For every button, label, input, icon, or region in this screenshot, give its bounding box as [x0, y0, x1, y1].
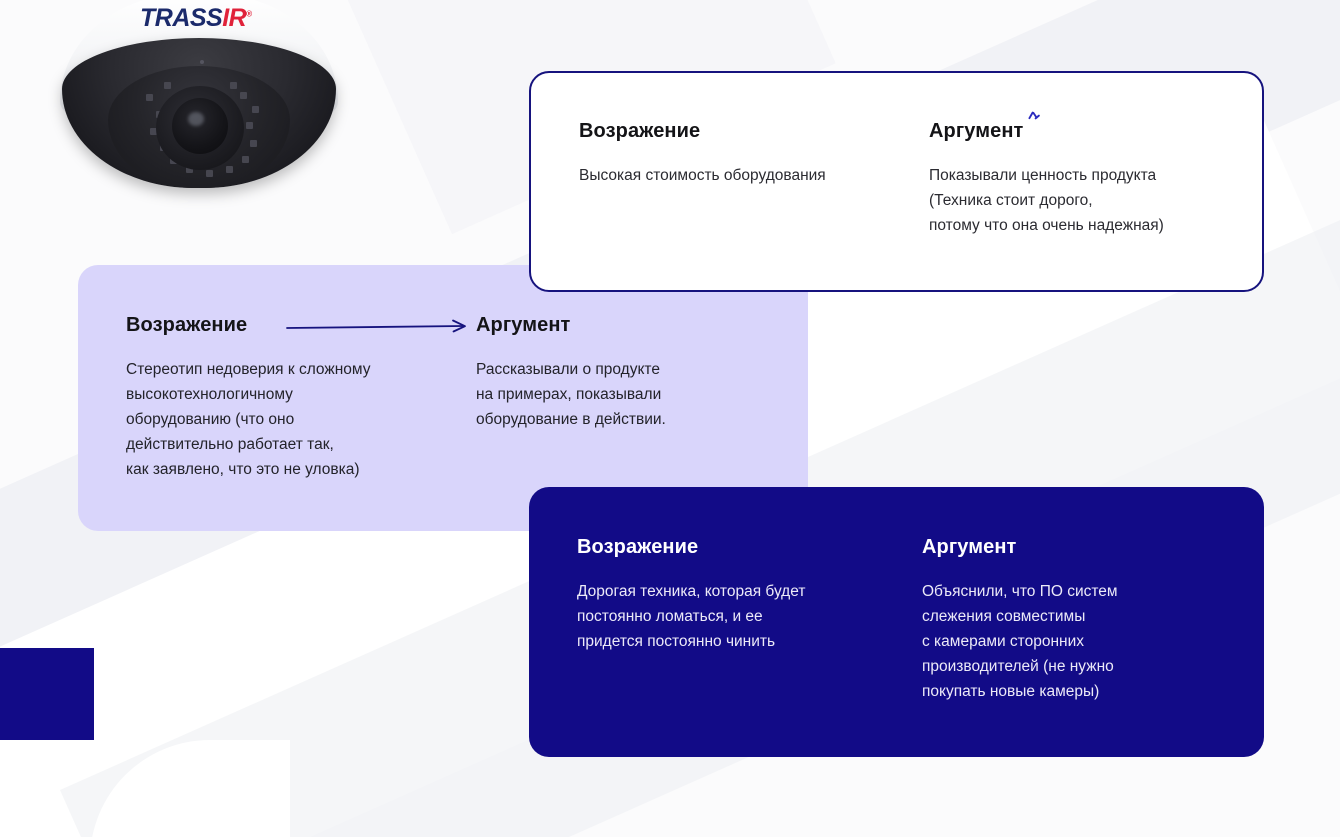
argument-column: Аргумент Показывали ценность продукта (Т… [929, 119, 1164, 290]
objection-text: Высокая стоимость оборудования [579, 163, 929, 188]
logo-registered-mark: ® [246, 10, 251, 19]
ir-led [246, 122, 253, 129]
logo-text-red: IR [222, 4, 246, 32]
objection-column: Возражение Дорогая техника, которая буде… [577, 535, 922, 757]
argument-heading: Аргумент [929, 119, 1164, 143]
camera-lens-inner [172, 98, 228, 154]
objection-card-white: Возражение Высокая стоимость оборудовани… [529, 71, 1264, 292]
argument-heading: Аргумент [922, 535, 1118, 559]
camera-lens-glint [188, 112, 204, 126]
objection-card-navy: Возражение Дорогая техника, которая буде… [529, 487, 1264, 757]
sparkle-icon [1024, 110, 1042, 128]
ir-led [226, 166, 233, 173]
ir-led [230, 82, 237, 89]
objection-heading: Возражение [579, 119, 929, 143]
argument-column: Аргумент Объяснили, что ПО систем слежен… [922, 535, 1118, 757]
argument-heading: Аргумент [476, 313, 666, 337]
ir-led [206, 170, 213, 177]
objection-column: Возражение Высокая стоимость оборудовани… [579, 119, 929, 290]
arrow-right-icon [285, 317, 477, 335]
navy-accent-square [0, 648, 94, 740]
argument-text: Показывали ценность продукта (Техника ст… [929, 163, 1164, 238]
argument-text: Рассказывали о продукте на примерах, пок… [476, 357, 666, 432]
objection-text: Дорогая техника, которая будет постоянно… [577, 579, 922, 654]
argument-text: Объяснили, что ПО систем слежения совмес… [922, 579, 1118, 704]
ir-led [240, 92, 247, 99]
trassir-logo: TRASSIR® [140, 6, 252, 31]
camera-screw [200, 60, 204, 64]
ir-led [146, 94, 153, 101]
objection-column: Возражение Стереотип недоверия к сложном… [126, 313, 476, 531]
ir-led [252, 106, 259, 113]
objection-heading: Возражение [577, 535, 922, 559]
objection-text: Стереотип недоверия к сложному высокотех… [126, 357, 476, 482]
ir-led [164, 82, 171, 89]
logo-text-dark: TRASS [140, 4, 222, 32]
ir-led [242, 156, 249, 163]
argument-heading-label: Аргумент [929, 120, 1023, 142]
ir-led [250, 140, 257, 147]
